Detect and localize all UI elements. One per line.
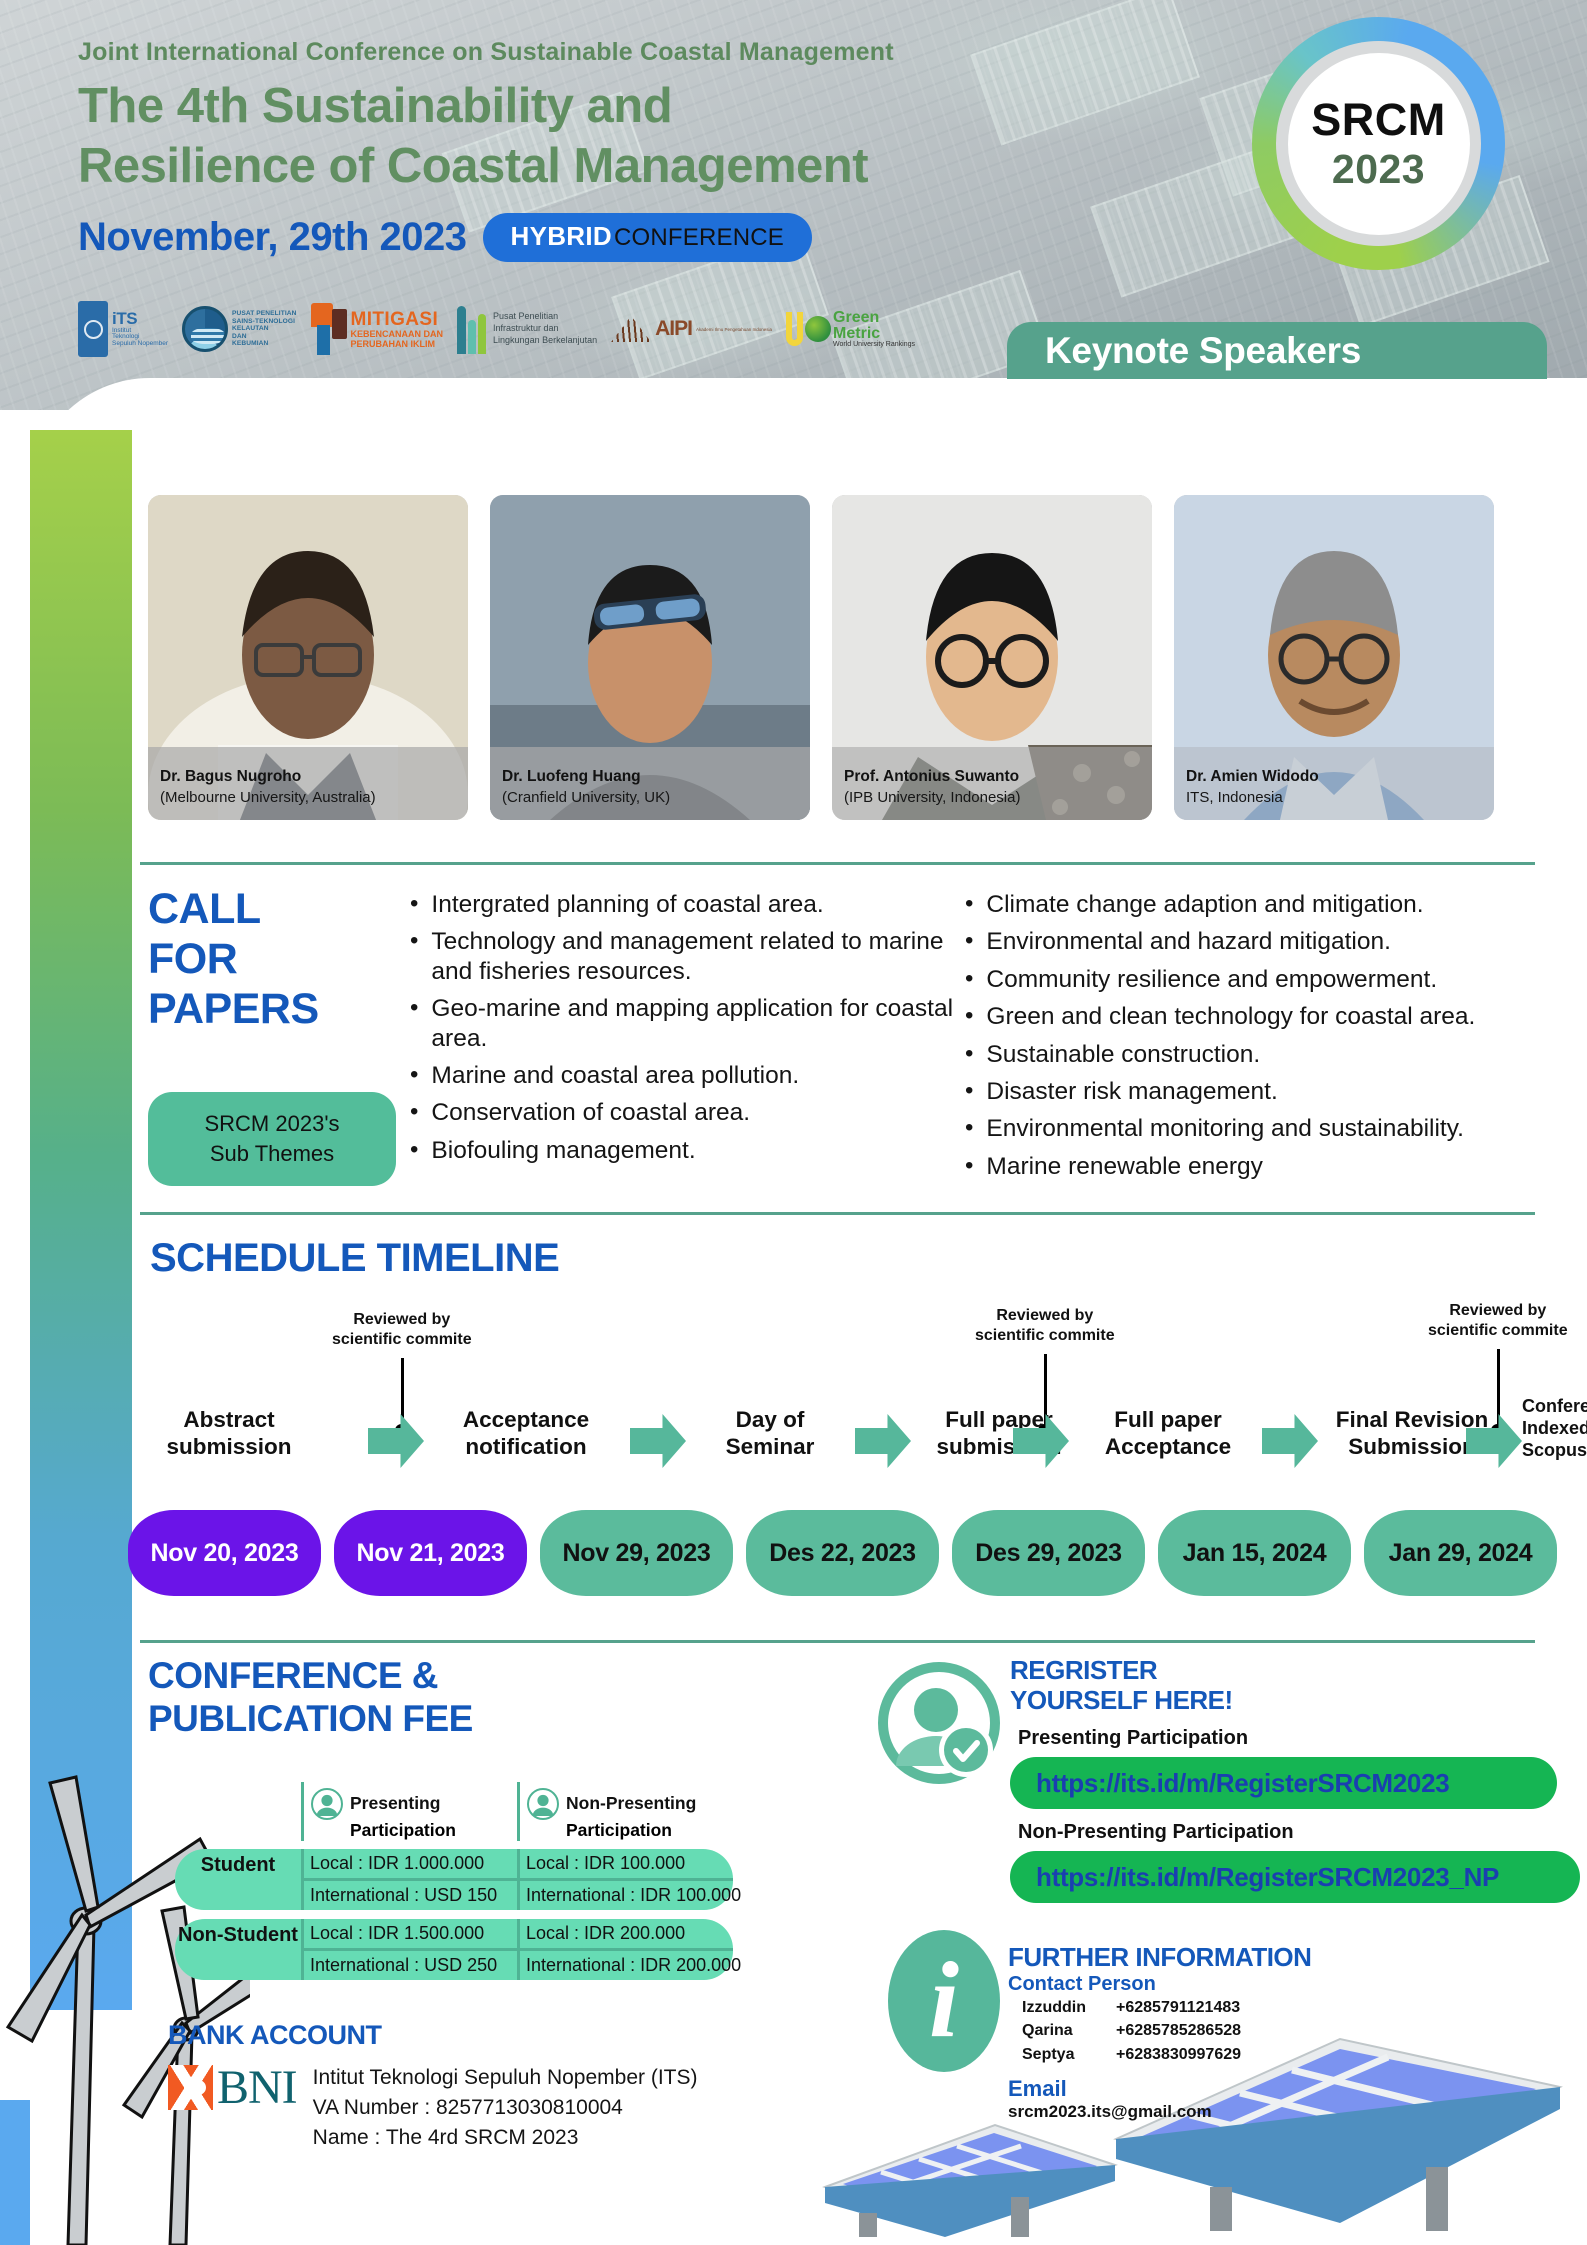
bni-mark-icon <box>168 2065 213 2110</box>
cfp-title-line-3: PAPERS <box>148 985 319 1035</box>
speaker-name: Dr. Luofeng Huang <box>502 767 798 788</box>
contact-name: Qarina <box>1008 2019 1116 2042</box>
bullet-icon: • <box>410 1136 418 1165</box>
list-item: •Geo-marine and mapping application for … <box>410 994 965 1053</box>
info-icon: i <box>888 1930 1000 2072</box>
sub-theme-text: Community resilience and empowerment. <box>986 965 1437 994</box>
sub-theme-text: Environmental and hazard mitigation. <box>986 927 1390 956</box>
date-pill: Nov 29, 2023 <box>540 1510 733 1596</box>
email-address[interactable]: srcm2023.its@gmail.com <box>1008 2102 1311 2122</box>
conference-fee-title: CONFERENCE & PUBLICATION FEE <box>148 1655 473 1741</box>
column-header-line-1: Presenting <box>350 1793 440 1814</box>
bank-va-number: VA Number : 8257713030810004 <box>313 2093 698 2123</box>
fee-cell: International : IDR 200.000 <box>517 1951 733 1980</box>
further-information-title: FURTHER INFORMATION <box>1008 1942 1311 1972</box>
sub-theme-text: Biofouling management. <box>431 1136 695 1165</box>
further-information-block: FURTHER INFORMATION Contact Person Izzud… <box>1008 1942 1311 2122</box>
list-item: •Intergrated planning of coastal area. <box>410 890 965 919</box>
sub-themes-list-left: •Intergrated planning of coastal area. •… <box>410 890 965 1173</box>
timeline-step: Conference Indexed by Scopus <box>1522 1396 1587 1462</box>
cfp-title-line-1: CALL <box>148 885 319 935</box>
timeline-arrow-icon <box>1262 1414 1318 1468</box>
sub-theme-text: Marine renewable energy <box>986 1152 1262 1181</box>
bank-account-block: BANK ACCOUNT BNI Intitut Teknologi Sepul… <box>168 2020 698 2153</box>
table-corner-cell <box>175 1782 301 1826</box>
timeline-step-line-3: Scopus <box>1522 1440 1587 1460</box>
list-item: •Marine and coastal area pollution. <box>410 1061 965 1090</box>
review-note-line-2: scientific commite <box>332 1331 472 1348</box>
fee-cell: Local : IDR 1.500.000 <box>301 1919 517 1951</box>
table-row: Non-Student Local : IDR 1.500.000 Local … <box>175 1919 733 1951</box>
fee-cell: International : USD 250 <box>301 1951 517 1980</box>
bullet-icon: • <box>410 994 418 1053</box>
bullet-icon: • <box>410 890 418 919</box>
contact-phone: +6285791121483 <box>1116 1996 1240 2019</box>
list-item: •Marine renewable energy <box>965 1152 1565 1181</box>
register-non-presenting-label: Non-Presenting Participation <box>1018 1821 1570 1844</box>
contact-row: Septya +6283830997629 <box>1008 2043 1311 2066</box>
timeline-step-line-1: Abstract <box>183 1407 274 1432</box>
review-note: Reviewed by scientific commite <box>975 1306 1115 1346</box>
bullet-icon: • <box>410 927 418 986</box>
sub-themes-pill-line-2: Sub Themes <box>210 1139 334 1169</box>
timeline-step-line-1: Final Revision <box>1336 1407 1489 1432</box>
speaker-name: Dr. Amien Widodo <box>1186 767 1482 788</box>
timeline-arrow-icon <box>368 1414 424 1468</box>
contact-row: Izzuddin +6285791121483 <box>1008 1996 1311 2019</box>
speaker-name: Dr. Bagus Nugroho <box>160 767 456 788</box>
timeline-step-line-2: Seminar <box>726 1434 815 1459</box>
section-divider <box>140 1212 1535 1215</box>
bullet-icon: • <box>965 1114 973 1143</box>
date-pill: Nov 20, 2023 <box>128 1510 321 1596</box>
timeline-step-line-2: notification <box>465 1434 586 1459</box>
speaker-name: Prof. Antonius Suwanto <box>844 767 1140 788</box>
sub-theme-text: Disaster risk management. <box>986 1077 1277 1106</box>
timeline-arrow-icon <box>855 1414 911 1468</box>
fee-cell: Local : IDR 200.000 <box>517 1919 733 1951</box>
list-item: •Environmental monitoring and sustainabi… <box>965 1114 1565 1143</box>
bullet-icon: • <box>965 965 973 994</box>
timeline-step-line-1: Acceptance <box>463 1407 589 1432</box>
sub-theme-text: Sustainable construction. <box>986 1040 1260 1069</box>
table-row: International : USD 150 International : … <box>175 1881 733 1910</box>
sub-themes-list-right: •Climate change adaption and mitigation.… <box>965 890 1565 1189</box>
register-person-check-icon <box>878 1662 1000 1784</box>
speaker-card: Prof. Antonius Suwanto (IPB University, … <box>832 495 1152 820</box>
table-row: International : USD 250 International : … <box>175 1951 733 1980</box>
bullet-icon: • <box>965 927 973 956</box>
fee-title-line-1: CONFERENCE & <box>148 1655 473 1698</box>
cfp-title-line-2: FOR <box>148 935 319 985</box>
timeline-step: Full paper Acceptance <box>1078 1406 1258 1461</box>
fee-cell: International : USD 150 <box>301 1881 517 1910</box>
speaker-card: Dr. Luofeng Huang (Cranfield University,… <box>490 495 810 820</box>
timeline-step-line-1: Day of <box>736 1407 805 1432</box>
register-title-line-1: REGRISTER <box>1010 1655 1570 1685</box>
bullet-icon: • <box>410 1061 418 1090</box>
bni-logo: BNI <box>168 2060 297 2115</box>
date-pill: Jan 15, 2024 <box>1158 1510 1351 1596</box>
person-icon <box>311 1788 343 1820</box>
timeline-arrow-icon <box>630 1414 686 1468</box>
sub-theme-text: Climate change adaption and mitigation. <box>986 890 1423 919</box>
review-note-line-2: scientific commite <box>1428 1322 1568 1339</box>
fee-table: Presenting Non-Presenting Participation … <box>175 1782 733 1980</box>
list-item: •Green and clean technology for coastal … <box>965 1002 1565 1031</box>
bullet-icon: • <box>410 1098 418 1127</box>
bank-details: Intitut Teknologi Sepuluh Nopember (ITS)… <box>313 2060 698 2152</box>
list-item: •Conservation of coastal area. <box>410 1098 965 1127</box>
timeline-step: Abstract submission <box>130 1406 328 1461</box>
date-pill: Jan 29, 2024 <box>1364 1510 1557 1596</box>
schedule-timeline: Reviewed by scientific commite Reviewed … <box>130 1310 1570 1500</box>
date-pill: Des 29, 2023 <box>952 1510 1145 1596</box>
table-row: Student Local : IDR 1.000.000 Local : ID… <box>175 1849 733 1881</box>
bullet-icon: • <box>965 1152 973 1181</box>
fee-cell: International : IDR 100.000 <box>517 1881 733 1910</box>
speaker-card: Dr. Amien Widodo ITS, Indonesia <box>1174 495 1494 820</box>
date-pill: Nov 21, 2023 <box>334 1510 527 1596</box>
column-header-line-2: Participation <box>301 1820 517 1841</box>
sub-theme-text: Intergrated planning of coastal area. <box>431 890 823 919</box>
register-presenting-link[interactable]: https://its.id/m/RegisterSRCM2023 <box>1010 1757 1557 1809</box>
bullet-icon: • <box>965 890 973 919</box>
register-presenting-label: Presenting Participation <box>1018 1727 1570 1750</box>
speaker-affiliation: (IPB University, Indonesia) <box>844 788 1140 808</box>
sub-theme-text: Technology and management related to mar… <box>431 927 965 986</box>
bank-account-name: Name : The 4rd SRCM 2023 <box>313 2123 698 2153</box>
fee-cell: Local : IDR 1.000.000 <box>301 1849 517 1881</box>
column-header-line-1: Non-Presenting <box>566 1793 696 1814</box>
timeline-step: Day of Seminar <box>690 1406 850 1461</box>
bullet-icon: • <box>965 1040 973 1069</box>
review-note-line-1: Reviewed by <box>353 1311 450 1328</box>
timeline-step-line-1: Full paper <box>1114 1407 1222 1432</box>
review-note-line-1: Reviewed by <box>1449 1302 1546 1319</box>
schedule-timeline-title: SCHEDULE TIMELINE <box>150 1235 559 1281</box>
sub-theme-text: Green and clean technology for coastal a… <box>986 1002 1475 1031</box>
row-label-non-student-cont <box>175 1951 301 1980</box>
register-block: REGRISTER YOURSELF HERE! Presenting Part… <box>1010 1655 1570 1903</box>
list-item: •Disaster risk management. <box>965 1077 1565 1106</box>
list-item: •Community resilience and empowerment. <box>965 965 1565 994</box>
timeline-step: Acceptance notification <box>430 1406 622 1461</box>
list-item: •Sustainable construction. <box>965 1040 1565 1069</box>
register-non-presenting-link[interactable]: https://its.id/m/RegisterSRCM2023_NP <box>1010 1851 1580 1903</box>
contact-phone: +6285785286528 <box>1116 2019 1241 2042</box>
review-note-line-1: Reviewed by <box>996 1307 1093 1324</box>
speaker-affiliation: ITS, Indonesia <box>1186 788 1482 808</box>
bank-holder-name: Intitut Teknologi Sepuluh Nopember (ITS) <box>313 2063 698 2093</box>
list-item: •Climate change adaption and mitigation. <box>965 890 1565 919</box>
speaker-affiliation: (Cranfield University, UK) <box>502 788 798 808</box>
sub-theme-text: Geo-marine and mapping application for c… <box>431 994 965 1053</box>
register-title-line-2: YOURSELF HERE! <box>1010 1685 1570 1715</box>
date-pill: Des 22, 2023 <box>746 1510 939 1596</box>
contact-phone: +6283830997629 <box>1116 2043 1241 2066</box>
contact-row: Qarina +6285785286528 <box>1008 2019 1311 2042</box>
list-item: •Technology and management related to ma… <box>410 927 965 986</box>
fee-title-line-2: PUBLICATION FEE <box>148 1698 473 1741</box>
list-item: •Environmental and hazard mitigation. <box>965 927 1565 956</box>
timeline-step-line-1: Conference <box>1522 1396 1587 1416</box>
review-note: Reviewed by scientific commite <box>1428 1301 1568 1341</box>
timeline-step-line-2: Acceptance <box>1105 1434 1231 1459</box>
timeline-step-line-2: Submission <box>1348 1434 1476 1459</box>
fee-cell: Local : IDR 100.000 <box>517 1849 733 1881</box>
contact-name: Izzuddin <box>1008 1996 1116 2019</box>
bni-wordmark: BNI <box>217 2060 297 2115</box>
speaker-card: Dr. Bagus Nugroho (Melbourne University,… <box>148 495 468 820</box>
speaker-affiliation: (Melbourne University, Australia) <box>160 788 456 808</box>
review-note-line-2: scientific commite <box>975 1327 1115 1344</box>
person-icon <box>527 1788 559 1820</box>
sub-themes-pill-line-1: SRCM 2023's <box>204 1109 339 1139</box>
section-divider <box>140 1640 1535 1643</box>
sub-theme-text: Marine and coastal area pollution. <box>431 1061 799 1090</box>
section-divider <box>140 862 1535 865</box>
column-header-line-2: Participation <box>517 1820 733 1841</box>
email-heading: Email <box>1008 2076 1311 2102</box>
row-label-non-student: Non-Student <box>175 1919 301 1951</box>
bullet-icon: • <box>965 1002 973 1031</box>
review-note: Reviewed by scientific commite <box>332 1310 472 1350</box>
timeline-step-line-2: Indexed by <box>1522 1418 1587 1438</box>
row-label-student: Student <box>175 1849 301 1881</box>
list-item: •Biofouling management. <box>410 1136 965 1165</box>
timeline-step-line-2: submission <box>166 1434 291 1459</box>
sub-theme-text: Conservation of coastal area. <box>431 1098 750 1127</box>
sub-themes-pill: SRCM 2023's Sub Themes <box>148 1092 396 1186</box>
row-label-student-cont <box>175 1881 301 1910</box>
schedule-dates-row: Nov 20, 2023 Nov 21, 2023 Nov 29, 2023 D… <box>128 1510 1557 1596</box>
contact-name: Septya <box>1008 2043 1116 2066</box>
contact-person-heading: Contact Person <box>1008 1973 1311 1996</box>
keynote-speakers-grid: Dr. Bagus Nugroho (Melbourne University,… <box>148 495 1494 820</box>
call-for-papers-title: CALL FOR PAPERS <box>148 885 319 1035</box>
bank-account-title: BANK ACCOUNT <box>168 2020 698 2051</box>
bullet-icon: • <box>965 1077 973 1106</box>
sub-theme-text: Environmental monitoring and sustainabil… <box>986 1114 1464 1143</box>
